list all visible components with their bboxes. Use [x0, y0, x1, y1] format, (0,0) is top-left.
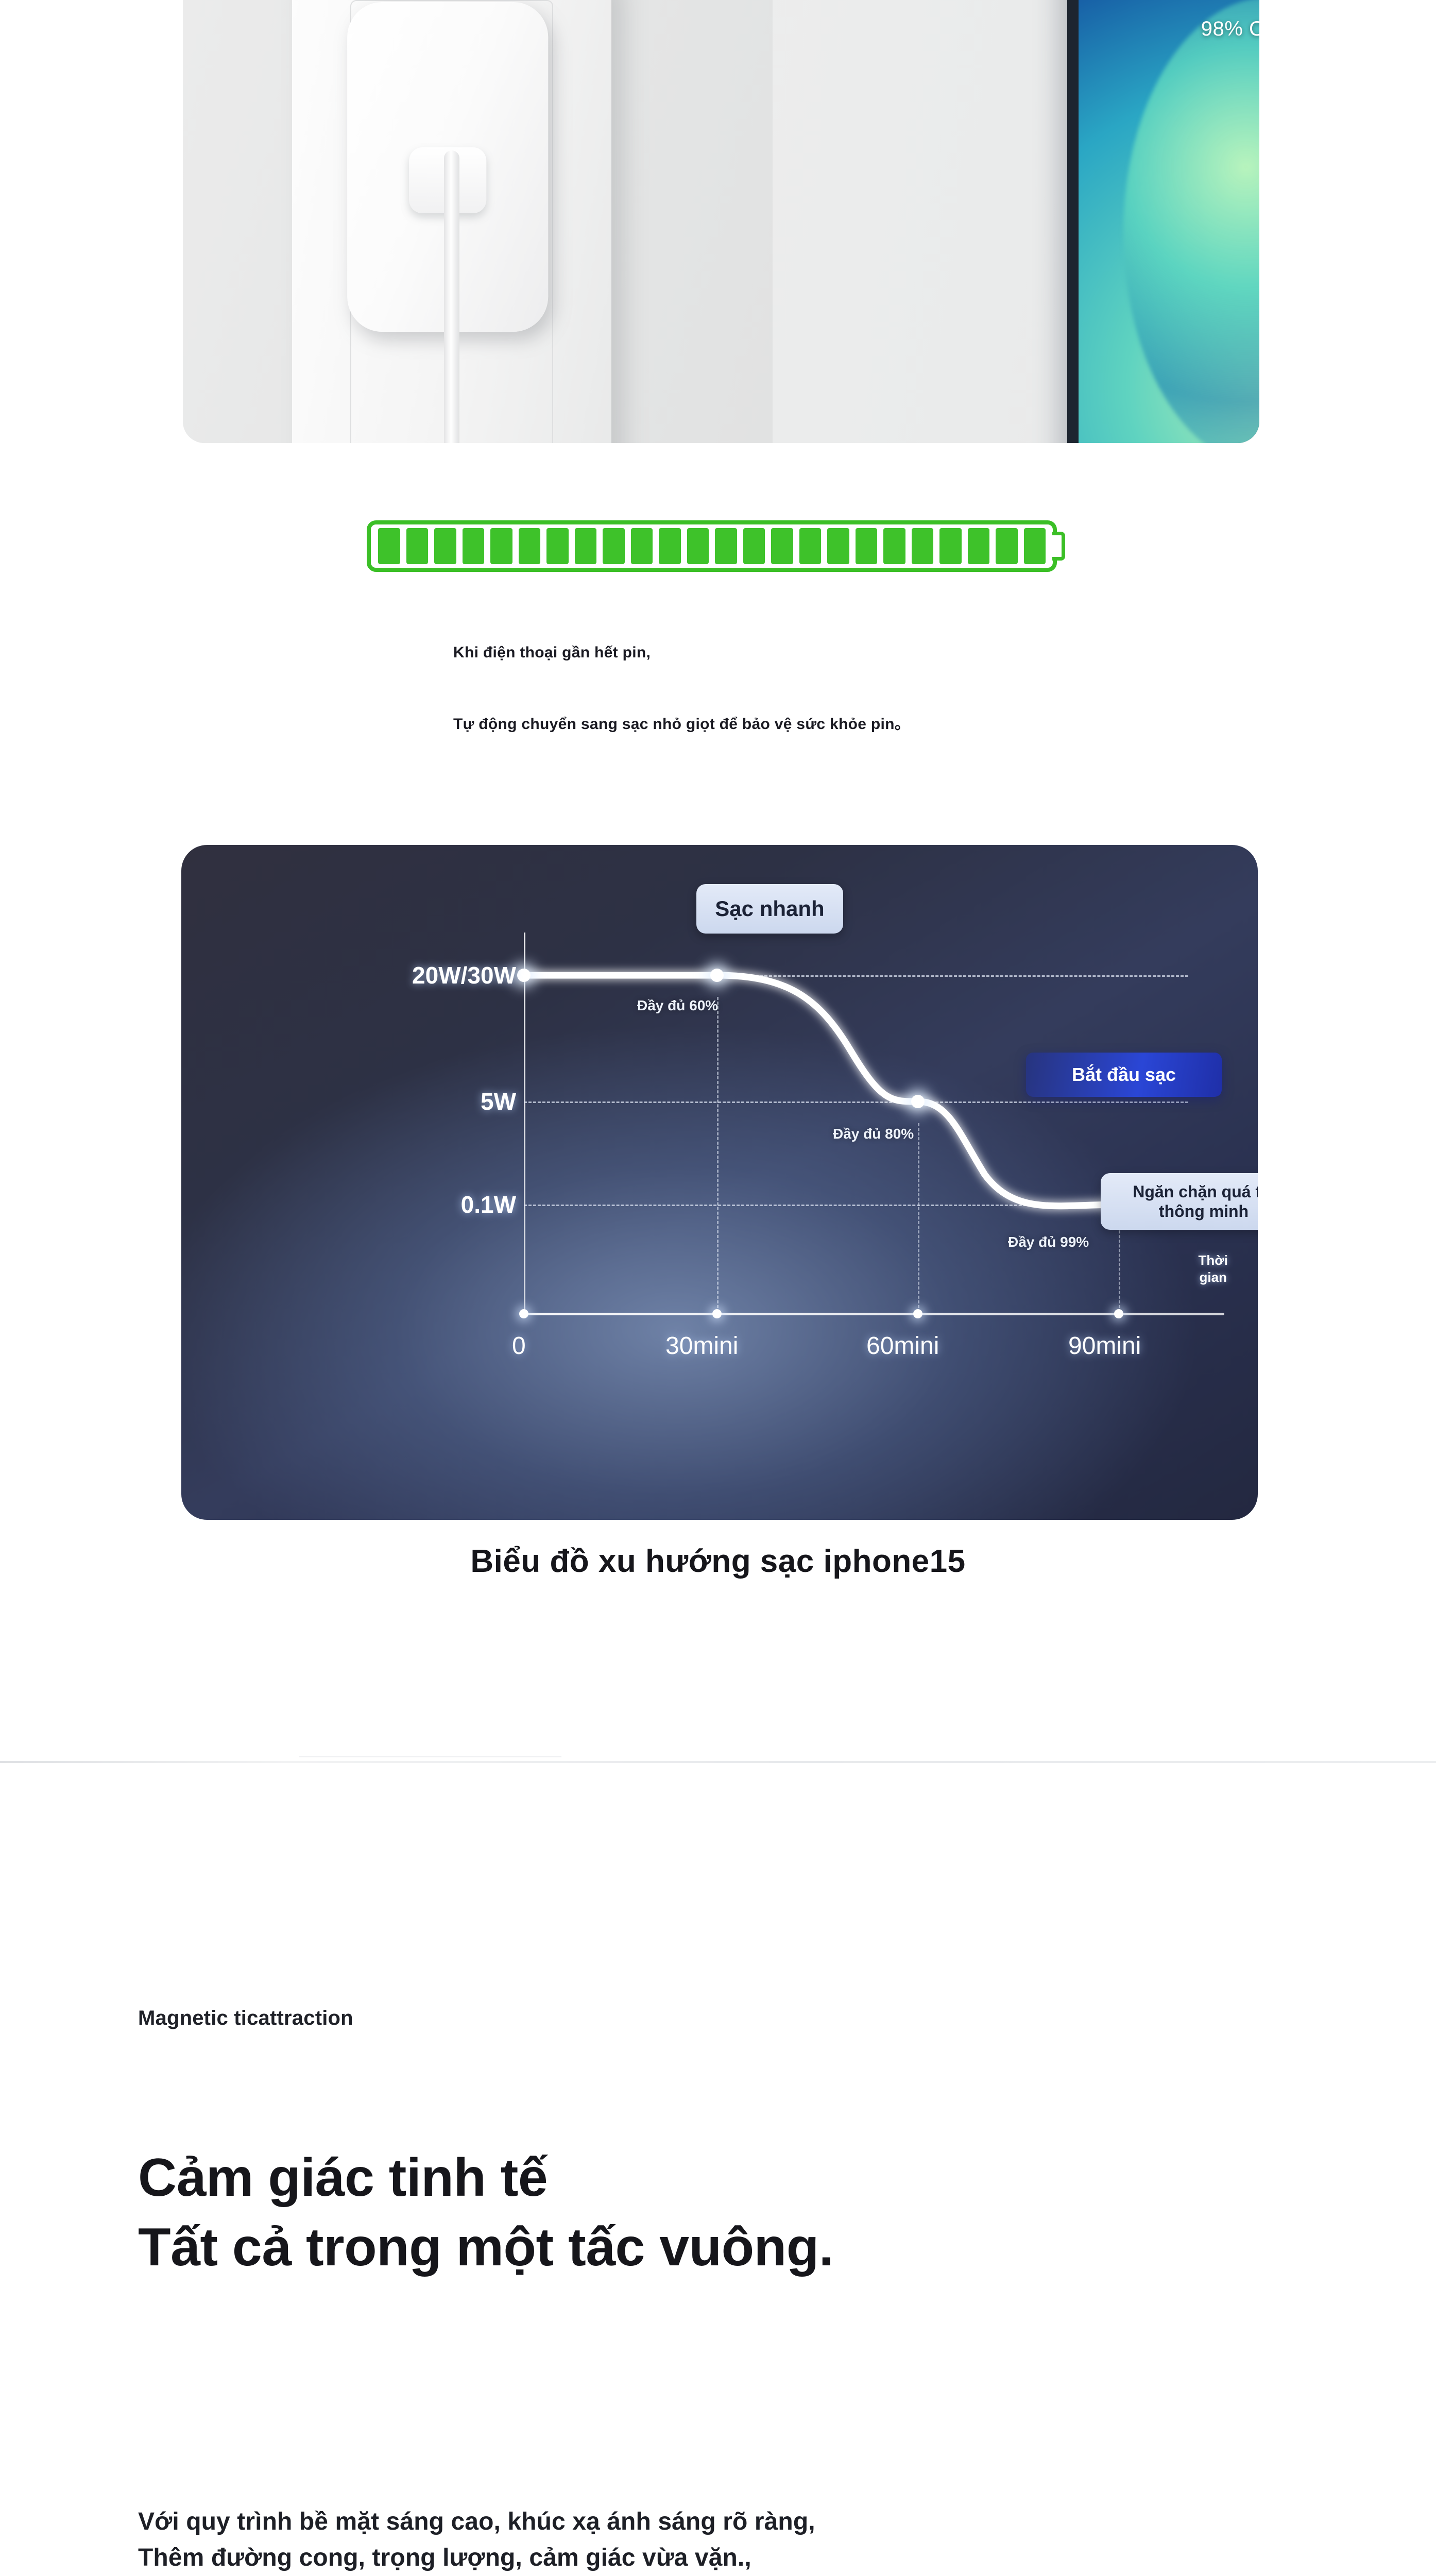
datapoint-start [517, 969, 531, 982]
x-tick-label-1: 30mini [665, 1332, 738, 1360]
hero-product-photo: 98% Charged [183, 0, 1259, 443]
chart-plot-area: 20W/30W 5W 0.1W 0 30mini 60mini 90mini T… [181, 845, 1258, 1520]
iphone-device: 98% Charged [1067, 0, 1259, 443]
point-label-60pct: Đầy đủ 60% [637, 997, 718, 1014]
wall-outlet-plate [292, 0, 611, 443]
annotation-ngan-chan-line2: thông minh [1159, 1201, 1249, 1221]
battery-cell [968, 528, 990, 564]
point-label-80pct: Đầy đủ 80% [833, 1126, 914, 1142]
battery-cell [743, 528, 765, 564]
outlet-photo-half [183, 0, 773, 443]
battery-cell [799, 528, 822, 564]
section-headline: Cảm giác tinh tế Tất cả trong một tấc vu… [138, 2143, 833, 2282]
annotation-sac-nhanh: Sạc nhanh [696, 884, 843, 934]
section-body-copy: Với quy trình bề mặt sáng cao, khúc xạ á… [138, 2504, 815, 2575]
x-axis-title: Thời gian [1199, 1252, 1228, 1285]
battery-cell [406, 528, 429, 564]
headline-line-1: Cảm giác tinh tế [138, 2143, 833, 2213]
y-tick-label-0: 20W/30W [320, 961, 516, 989]
section-divider [0, 1761, 1436, 1763]
tick-dot-0 [519, 1309, 528, 1318]
battery-cell [490, 528, 512, 564]
battery-cell [856, 528, 878, 564]
battery-cell [378, 528, 400, 564]
x-tick-label-2: 60mini [866, 1332, 939, 1360]
point-label-99pct: Đầy đủ 99% [1008, 1234, 1089, 1250]
battery-caption-line-2: Tự động chuyển sang sạc nhỏ giọt để bảo … [453, 711, 910, 734]
phone-photo-half: 98% Charged [773, 0, 1259, 443]
iphone-screen: 98% Charged [1079, 0, 1259, 443]
battery-caption-line-1: Khi điện thoại gần hết pin, [453, 644, 651, 662]
charging-cable [444, 150, 459, 443]
tick-dot-60mini [913, 1309, 922, 1318]
battery-cell [883, 528, 905, 564]
charging-power-curve [181, 845, 1258, 1520]
x-axis-title-line2: gian [1199, 1269, 1228, 1286]
battery-cell [519, 528, 541, 564]
x-tick-label-3: 90mini [1068, 1332, 1141, 1360]
body-copy-line-2: Thêm đường cong, trọng lượng, cảm giác v… [138, 2540, 815, 2576]
x-axis-title-line1: Thời [1199, 1252, 1228, 1269]
battery-cell [771, 528, 793, 564]
full-battery-graphic [367, 520, 1057, 572]
y-tick-label-2: 0.1W [320, 1191, 516, 1218]
battery-cell [939, 528, 962, 564]
battery-cell [546, 528, 569, 564]
battery-cell [575, 528, 597, 564]
battery-cell [434, 528, 456, 564]
wallpaper-blob [1123, 0, 1259, 443]
battery-cell [1024, 528, 1046, 564]
battery-cell [631, 528, 653, 564]
battery-cell [827, 528, 849, 564]
battery-cell [996, 528, 1018, 564]
tick-dot-30mini [712, 1309, 722, 1318]
datapoint-80pct [911, 1095, 925, 1108]
battery-cell [687, 528, 709, 564]
tick-dot-90mini [1114, 1309, 1123, 1318]
battery-cell [603, 528, 625, 564]
headline-line-2: Tất cả trong một tấc vuông. [138, 2213, 833, 2282]
section-divider-accent [299, 1756, 561, 1757]
annotation-ngan-chan-qua-tai: Ngăn chặn quá tải thông minh [1101, 1173, 1258, 1230]
annotation-ngan-chan-line1: Ngăn chặn quá tải [1133, 1182, 1258, 1201]
chart-caption: Biểu đồ xu hướng sạc iphone15 [0, 1543, 1436, 1580]
battery-cell [463, 528, 485, 564]
charged-status-text: 98% Charged [1201, 18, 1259, 41]
y-tick-label-1: 5W [320, 1088, 516, 1115]
body-copy-line-1: Với quy trình bề mặt sáng cao, khúc xạ á… [138, 2504, 815, 2540]
battery-cell [659, 528, 681, 564]
x-tick-label-0: 0 [512, 1332, 526, 1360]
battery-cell [912, 528, 934, 564]
charging-trend-chart: 20W/30W 5W 0.1W 0 30mini 60mini 90mini T… [181, 845, 1258, 1520]
battery-cell [715, 528, 737, 564]
datapoint-60pct [710, 969, 724, 982]
section-eyebrow: Magnetic ticattraction [138, 2007, 353, 2030]
annotation-bat-dau-sac: Bắt đầu sạc [1026, 1053, 1222, 1097]
